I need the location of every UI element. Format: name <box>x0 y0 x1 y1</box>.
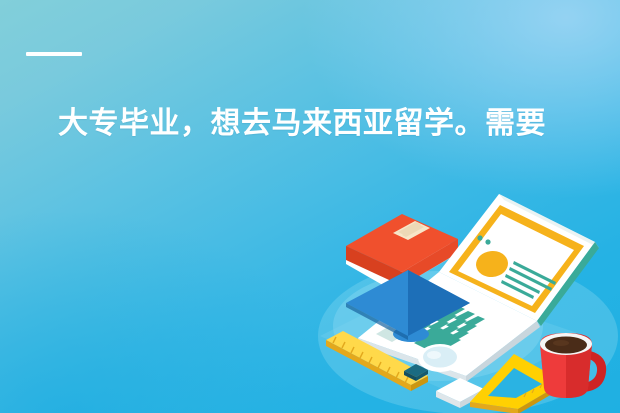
promo-banner: 大专毕业，想去马来西亚留学。需要 <box>0 0 620 413</box>
background-wash-top-right <box>300 0 620 200</box>
study-desk-illustration <box>318 186 620 413</box>
page-title: 大专毕业，想去马来西亚留学。需要 <box>58 104 598 144</box>
accent-dash <box>26 52 82 56</box>
background-wash-bottom-left <box>0 213 340 413</box>
